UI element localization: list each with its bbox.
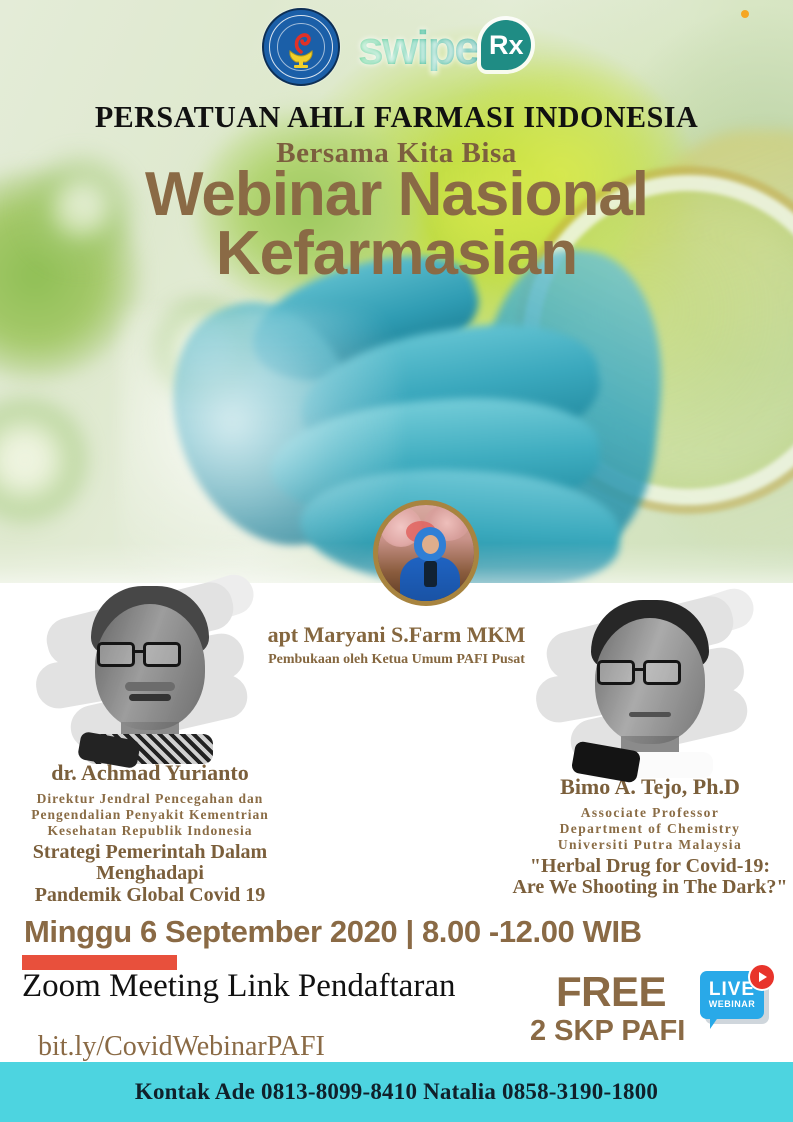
contact-bar: Kontak Ade 0813-8099-8410 Natalia 0858-3… (0, 1062, 793, 1122)
bowl-of-hygieia-icon (278, 24, 324, 70)
registration-link[interactable]: bit.ly/CovidWebinarPAFI (38, 1031, 325, 1063)
page-title: Webinar Nasional Kefarmasian (0, 166, 793, 284)
topic-line: Are We Shooting in The Dark?" (510, 877, 790, 899)
affiliation-line: Associate Professor (510, 805, 790, 821)
contact-text: Kontak Ade 0813-8099-8410 Natalia 0858-3… (135, 1079, 658, 1105)
rx-bubble-icon: Rx (481, 20, 531, 70)
logo-row: swipe Rx (0, 8, 793, 86)
swipe-dot-icon (741, 10, 749, 18)
swiperx-logo: swipe Rx (358, 22, 532, 72)
play-button-icon (750, 965, 774, 989)
speaker-photo-bimo-tejo (535, 592, 765, 772)
organization-name: PERSATUAN AHLI FARMASI INDONESIA (12, 99, 781, 135)
speaker-card-right: Bimo A. Tejo, Ph.D Associate Professor D… (510, 592, 790, 899)
speaker-topic: Strategi Pemerintah Dalam Menghadapi Pan… (10, 842, 290, 907)
topic-line: Pandemik Global Covid 19 (10, 885, 290, 907)
hero-banner (0, 0, 793, 583)
speaker-affiliation: Associate Professor Department of Chemis… (510, 805, 790, 853)
affiliation-line: Direktur Jendral Pencegahan dan (10, 791, 290, 807)
speaker-affiliation: Direktur Jendral Pencegahan dan Pengenda… (10, 791, 290, 839)
event-date-time: Minggu 6 September 2020 | 8.00 -12.00 WI… (24, 914, 642, 950)
topic-line: "Herbal Drug for Covid-19: (510, 856, 790, 878)
speaker-card-left: dr. Achmad Yurianto Direktur Jendral Pen… (10, 578, 290, 907)
badge-webinar-label: WEBINAR (709, 999, 756, 1011)
badge-live-label: LIVE (709, 980, 755, 999)
title-line-2: Kefarmasian (0, 225, 793, 284)
swipe-wordmark: swipe (358, 24, 479, 71)
live-webinar-badge-icon: LIVE WEBINAR (700, 971, 772, 1033)
hero-background-image (0, 0, 793, 583)
topic-line: Strategi Pemerintah Dalam Menghadapi (10, 842, 290, 885)
credits-badge: 2 SKP PAFI (530, 1015, 685, 1048)
speaker-topic: "Herbal Drug for Covid-19: Are We Shooti… (510, 856, 790, 899)
price-badge: FREE (556, 968, 666, 1016)
speaker-photo-achmad-yurianto (35, 578, 265, 758)
pafi-logo-icon (262, 8, 340, 86)
affiliation-line: Kesehatan Republik Indonesia (10, 823, 290, 839)
host-avatar (373, 500, 479, 606)
affiliation-line: Department of Chemistry (510, 821, 790, 837)
affiliation-line: Universiti Putra Malaysia (510, 837, 790, 853)
platform-registration-label: Zoom Meeting Link Pendaftaran (22, 968, 455, 1005)
affiliation-line: Pengendalian Penyakit Kementrian (10, 807, 290, 823)
